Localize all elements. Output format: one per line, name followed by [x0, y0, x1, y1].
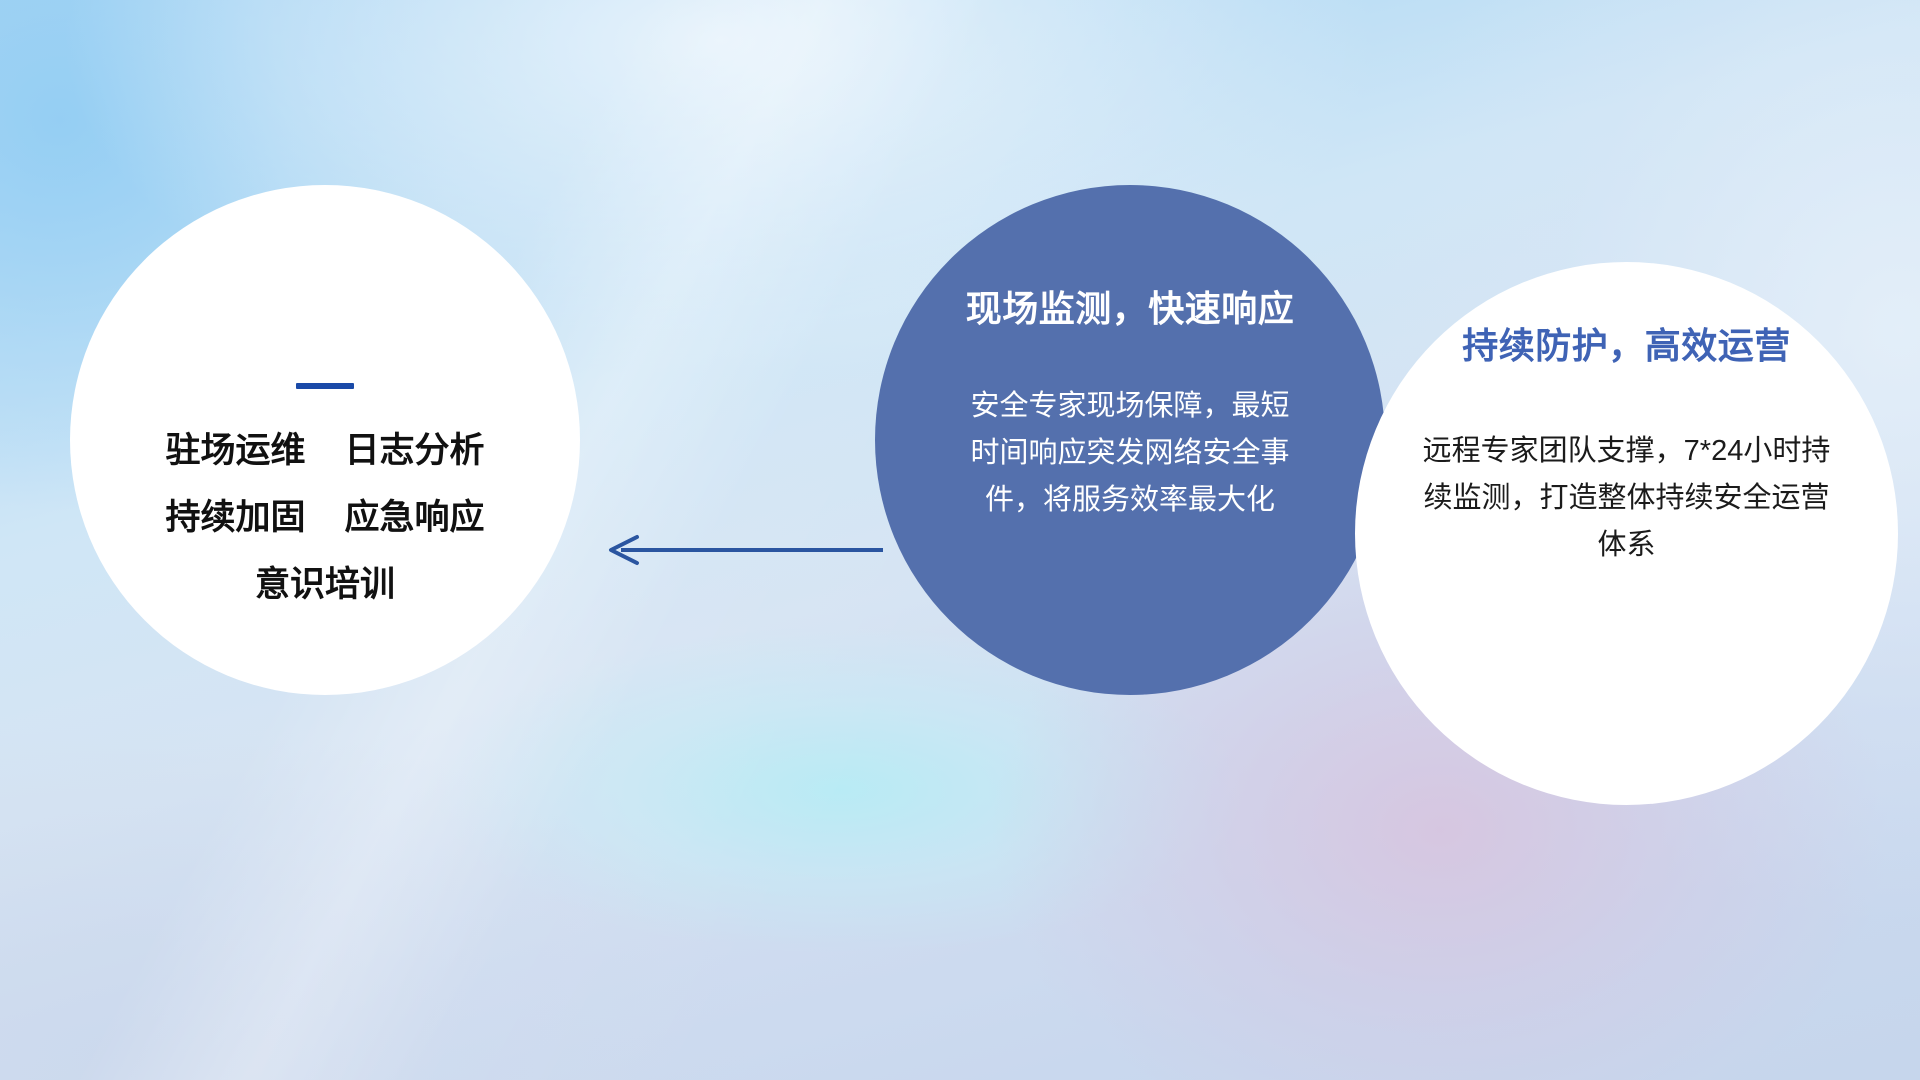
slide-canvas: 驻场运维 日志分析 持续加固 应急响应 意识培训 现场监测，快速响应 安全专家现… — [0, 0, 1920, 1080]
capability-line-2: 持续加固 应急响应 — [166, 500, 485, 535]
continuous-protection-circle[interactable]: 持续防护，高效运营 远程专家团队支撑，7*24小时持续监测，打造整体持续安全运营… — [1355, 262, 1898, 805]
divider-dash — [296, 383, 354, 389]
capability-line-3: 意识培训 — [166, 567, 485, 602]
continuous-protection-body: 远程专家团队支撑，7*24小时持续监测，打造整体持续安全运营体系 — [1422, 428, 1832, 569]
onsite-monitoring-title: 现场监测，快速响应 — [966, 289, 1295, 329]
capability-circle-left[interactable]: 驻场运维 日志分析 持续加固 应急响应 意识培训 — [70, 185, 580, 695]
continuous-protection-title: 持续防护，高效运营 — [1462, 326, 1791, 366]
capability-line-1: 驻场运维 日志分析 — [166, 433, 485, 468]
onsite-monitoring-body: 安全专家现场保障，最短时间响应突发网络安全事件，将服务效率最大化 — [960, 383, 1300, 524]
onsite-monitoring-circle[interactable]: 现场监测，快速响应 安全专家现场保障，最短时间响应突发网络安全事件，将服务效率最… — [875, 185, 1385, 695]
arrow-left-icon — [595, 525, 885, 575]
capability-list: 驻场运维 日志分析 持续加固 应急响应 意识培训 — [166, 433, 485, 602]
